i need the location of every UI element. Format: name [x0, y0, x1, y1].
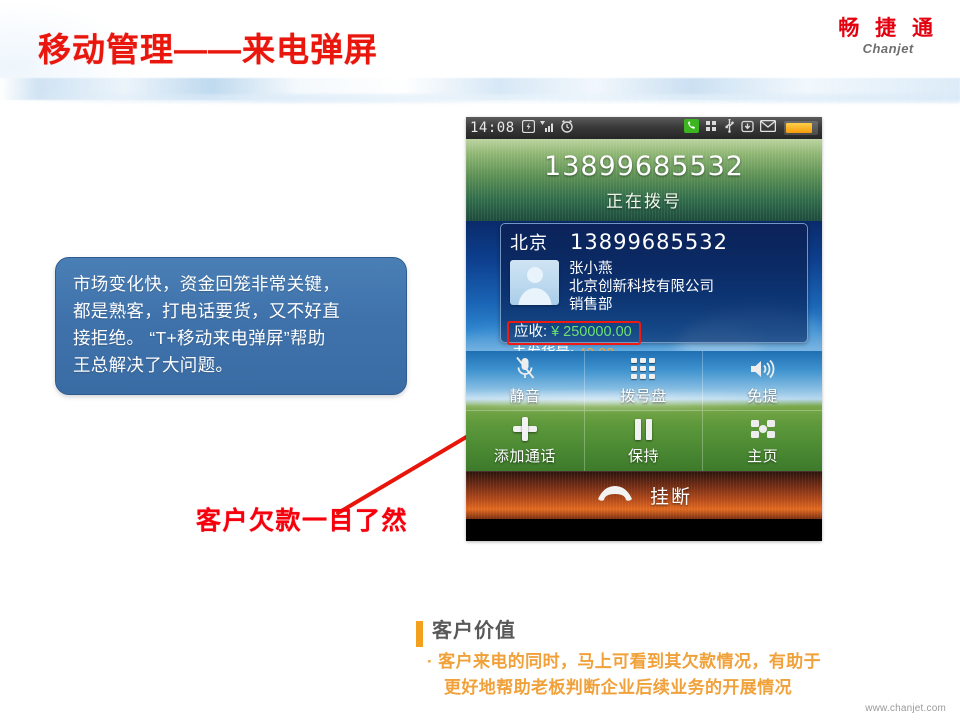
dialing-number: 13899685532: [466, 139, 822, 182]
receivable-value: ¥ 250000.00: [551, 324, 632, 340]
card-header-row: 北京 13899685532: [510, 229, 799, 255]
callout-line-2: 都是熟客，打电话要货，又不好直: [73, 298, 390, 325]
call-state-label: 正在拨号: [466, 187, 822, 212]
logo-english: Chanjet: [838, 42, 938, 55]
mute-button[interactable]: 静音: [466, 351, 585, 411]
mail-icon: [760, 120, 776, 136]
callout-line-3: 接拒绝。 “T+移动来电弹屏”帮助: [73, 325, 390, 352]
keypad-button[interactable]: 拨号盘: [585, 351, 704, 411]
add-call-icon: [513, 416, 537, 442]
keypad-label: 拨号盘: [620, 385, 667, 406]
callout-line-4: 王总解决了大问题。: [73, 352, 390, 379]
hold-button[interactable]: 保持: [585, 411, 704, 471]
add-call-label: 添加通话: [494, 445, 556, 466]
slide-root: 移动管理——来电弹屏 畅 捷 通 Chanjet 市场变化快，资金回笼非常关键，…: [0, 0, 960, 720]
call-info-region: 北京 13899685532 张小燕 北京创新科技有限公司 销售部: [466, 221, 822, 351]
home-label: 主页: [747, 445, 778, 466]
background-band-secondary: [0, 94, 960, 103]
customer-info-card: 北京 13899685532 张小燕 北京创新科技有限公司 销售部: [500, 223, 808, 343]
speaker-label: 免提: [747, 385, 778, 406]
status-time: 14:08: [470, 120, 515, 136]
footer-url: www.chanjet.com: [865, 703, 946, 714]
sync-icon: [522, 120, 535, 137]
phone-status-bar: 14:08: [466, 117, 822, 139]
contact-company: 北京创新科技有限公司: [569, 278, 714, 296]
avatar-head-shape: [527, 267, 543, 283]
callout-line-1: 市场变化快，资金回笼非常关键，: [73, 271, 390, 298]
value-bullet-line-2: 更好地帮助老板判断企业后续业务的开展情况: [444, 675, 960, 701]
contact-name: 张小燕: [569, 260, 714, 278]
mute-mic-icon: [514, 356, 536, 382]
testimonial-callout: 市场变化快，资金回笼非常关键， 都是熟客，打电话要货，又不好直 接拒绝。 “T+…: [55, 257, 407, 395]
call-action-grid: 静音 拨号盘 免提: [466, 351, 822, 471]
phone-call-icon: [684, 119, 699, 137]
speaker-button[interactable]: 免提: [703, 351, 822, 411]
contact-details: 张小燕 北京创新科技有限公司 销售部: [569, 260, 714, 314]
download-icon: [741, 120, 754, 137]
contact-city: 北京: [510, 229, 548, 255]
battery-icon: [784, 121, 818, 135]
home-contacts-icon: [750, 416, 776, 442]
alarm-clock-icon: [560, 119, 574, 137]
receivable-highlight-box: 应收: ¥ 250000.00: [507, 321, 641, 345]
page-title: 移动管理——来电弹屏: [38, 23, 378, 71]
accent-bar: [416, 621, 423, 647]
phone-screenshot: 14:08: [466, 117, 822, 541]
receivable-label: 应收:: [514, 324, 547, 340]
call-header: 13899685532 正在拨号: [466, 139, 822, 221]
avatar-body-shape: [518, 288, 551, 305]
contact-phone-number: 13899685532: [570, 230, 728, 254]
value-bullet-line-1: · 客户来电的同时，马上可看到其欠款情况，有助于: [427, 652, 821, 671]
end-call-label: 挂断: [650, 482, 692, 509]
customer-value-block: 客户价值 · 客户来电的同时，马上可看到其欠款情况，有助于 更好地帮助老板判断企…: [416, 620, 960, 701]
signal-bars-icon: [540, 120, 555, 137]
financial-summary: 应收: ¥ 250000.00 未发货量: 40.00: [510, 321, 799, 351]
receivable-row: 应收: ¥ 250000.00: [512, 321, 799, 345]
arrow-annotation-label: 客户欠款一目了然: [196, 501, 408, 537]
mute-label: 静音: [509, 385, 540, 406]
add-call-button[interactable]: 添加通话: [466, 411, 585, 471]
end-call-button[interactable]: 挂断: [466, 471, 822, 519]
avatar: [510, 260, 559, 305]
value-title: 客户价值: [432, 620, 516, 642]
usb-icon: [724, 119, 735, 137]
status-right-icons: [684, 119, 818, 137]
hangup-handset-icon: [596, 484, 634, 507]
value-heading: 客户价值: [416, 620, 960, 647]
brand-logo: 畅 捷 通 Chanjet: [838, 18, 938, 55]
hold-label: 保持: [628, 445, 659, 466]
logo-chinese: 畅 捷 通: [838, 18, 938, 39]
app-icon: [705, 120, 718, 137]
keypad-icon: [631, 356, 655, 382]
card-body-row: 张小燕 北京创新科技有限公司 销售部: [510, 260, 799, 314]
home-button[interactable]: 主页: [703, 411, 822, 471]
hold-pause-icon: [635, 416, 652, 442]
speaker-icon: [749, 356, 777, 382]
contact-department: 销售部: [569, 296, 714, 314]
value-bullets: · 客户来电的同时，马上可看到其欠款情况，有助于 更好地帮助老板判断企业后续业务…: [427, 649, 960, 701]
